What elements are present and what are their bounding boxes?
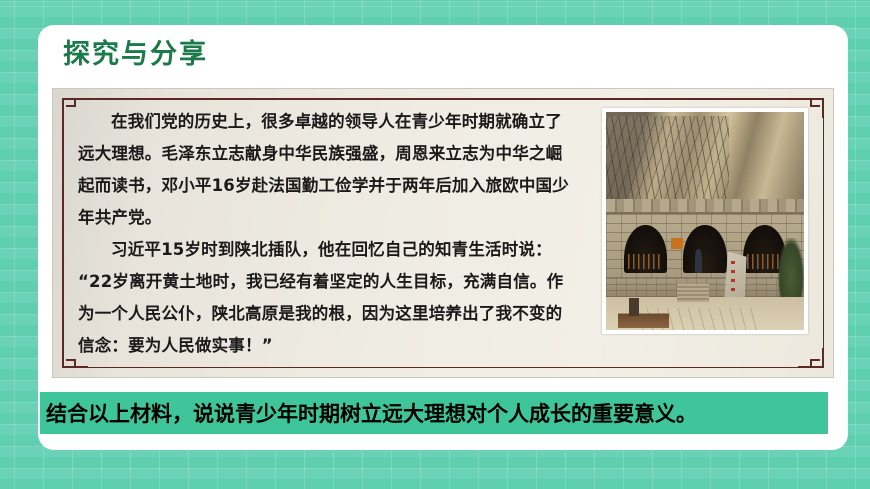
material-paragraph-1: 在我们党的历史上，很多卓越的领导人在青少年时期就确立了远大理想。毛泽东立志献身中… (78, 106, 578, 234)
question-banner: 结合以上材料，说说青少年时期树立远大理想对个人成长的重要意义。 (40, 392, 828, 434)
material-panel: 在我们党的历史上，很多卓越的领导人在青少年时期就确立了远大理想。毛泽东立志献身中… (52, 88, 834, 378)
photo-trees (606, 116, 729, 208)
material-text: 在我们党的历史上，很多卓越的领导人在青少年时期就确立了远大理想。毛泽东立志献身中… (78, 106, 578, 362)
photo-railing-right (747, 254, 783, 269)
frame-right-border (823, 98, 825, 368)
photo-image (606, 112, 804, 330)
question-banner-text: 结合以上材料，说说青少年时期树立远大理想对个人成长的重要意义。 (46, 398, 697, 428)
photo-person (695, 249, 702, 273)
photo-parapet (606, 199, 804, 214)
photo-plaque (671, 238, 683, 249)
frame-left-border (62, 98, 64, 368)
photo-bush (778, 238, 804, 303)
frame-top-border (62, 98, 824, 100)
corner-ornament-bottom-right-icon (798, 348, 824, 368)
material-paragraph-2: 习近平15岁时到陕北插队，他在回忆自己的知青生活时说： (78, 234, 578, 266)
material-paragraph-3: “22岁离开黄土地时，我已经有着坚定的人生目标，充满自信。作为一个人民公仆，陕北… (78, 266, 578, 362)
photo-cart (618, 302, 669, 328)
content-card: 探究与分享 在我们党的历史上，很多卓越的领导人在青少年时期就确立了远大理想。毛泽… (38, 25, 848, 450)
slide-canvas: 探究与分享 在我们党的历史上，很多卓越的领导人在青少年时期就确立了远大理想。毛泽… (0, 0, 870, 489)
photo-steps (677, 284, 709, 301)
photo-railing-left (628, 254, 664, 269)
page-title: 探究与分享 (63, 41, 208, 68)
frame-bottom-border (62, 367, 824, 369)
material-photo (602, 108, 808, 334)
